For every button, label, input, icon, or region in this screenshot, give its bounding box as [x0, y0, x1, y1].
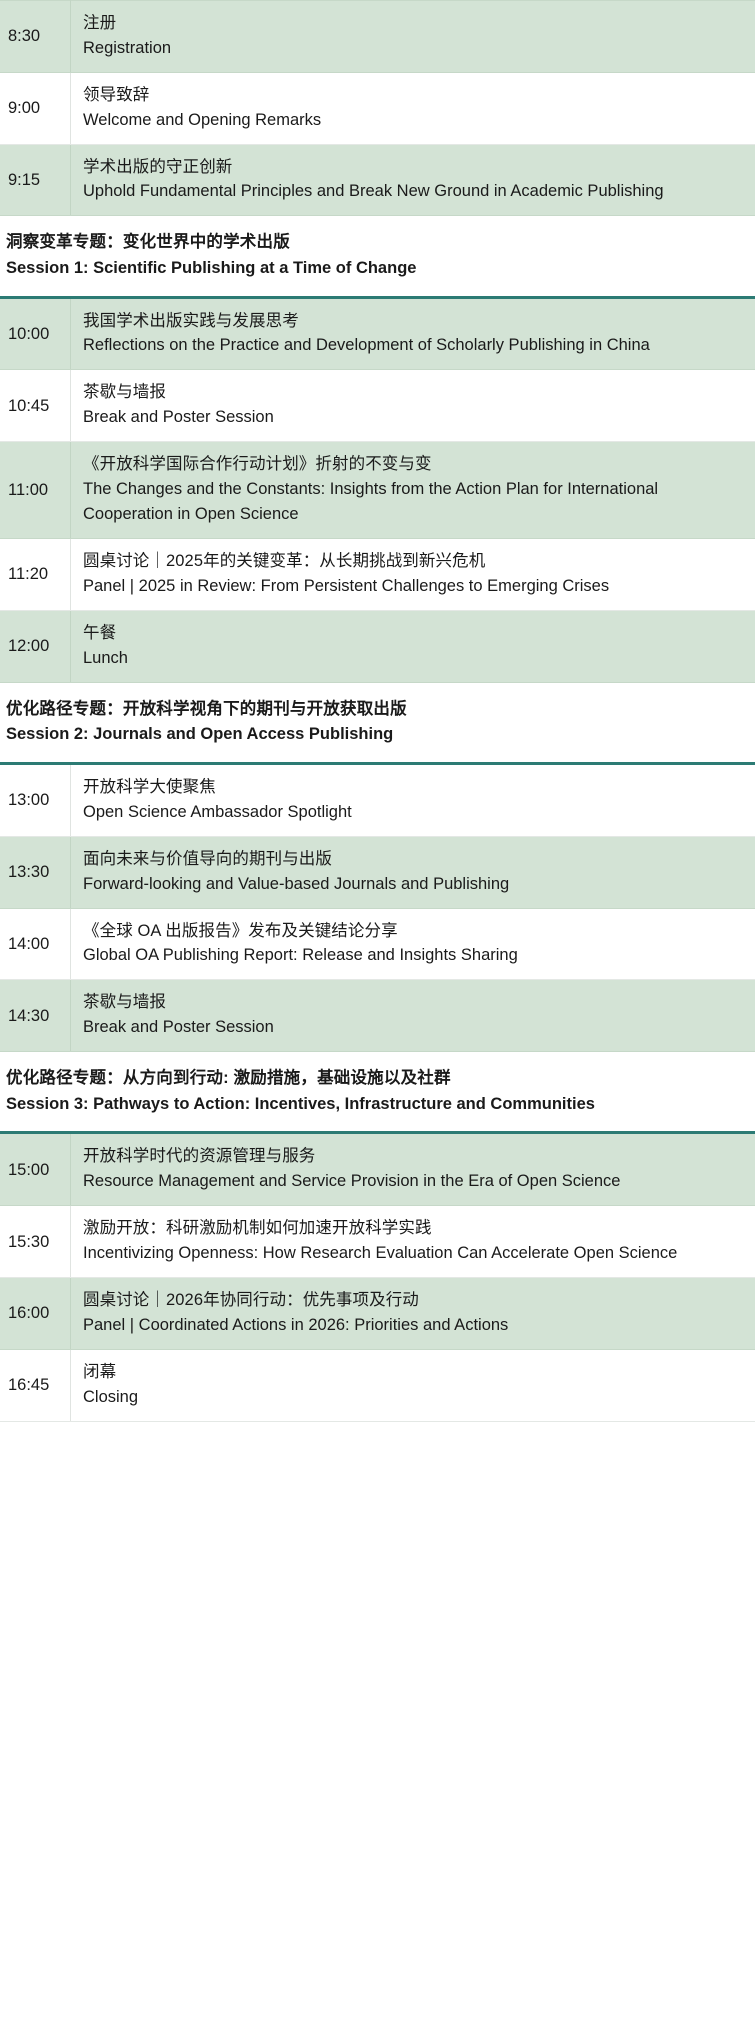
agenda-item-row: 13:30面向未来与价值导向的期刊与出版Forward-looking and … [0, 836, 755, 908]
session-header-cell: 优化路径专题：从方向到行动: 激励措施，基础设施以及社群Session 3: P… [0, 1052, 755, 1133]
agenda-item-title-en: Lunch [83, 646, 741, 671]
agenda-item-title-cn: 茶歇与墙报 [83, 380, 741, 405]
agenda-item-title-en: Break and Poster Session [83, 1015, 741, 1040]
agenda-item-row: 12:00午餐Lunch [0, 611, 755, 683]
agenda-item-time: 13:30 [0, 836, 71, 908]
agenda-item-title-cn: 《全球 OA 出版报告》发布及关键结论分享 [83, 919, 741, 944]
agenda-item-row: 15:30激励开放：科研激励机制如何加速开放科学实践Incentivizing … [0, 1206, 755, 1278]
agenda-item-detail: 学术出版的守正创新Uphold Fundamental Principles a… [71, 144, 755, 216]
agenda-item-title-en: Registration [83, 36, 741, 61]
agenda-item-title-cn: 茶歇与墙报 [83, 990, 741, 1015]
agenda-item-detail: 面向未来与价值导向的期刊与出版Forward-looking and Value… [71, 836, 755, 908]
agenda-item-time: 9:00 [0, 72, 71, 144]
agenda-item-time: 14:30 [0, 980, 71, 1052]
agenda-item-row: 8:30注册Registration [0, 1, 755, 73]
session-title-cn: 洞察变革专题：变化世界中的学术出版 [6, 230, 743, 256]
agenda-item-time: 8:30 [0, 1, 71, 73]
agenda-item-row: 9:15学术出版的守正创新Uphold Fundamental Principl… [0, 144, 755, 216]
agenda-item-title-cn: 学术出版的守正创新 [83, 155, 741, 180]
agenda-item-detail: 注册Registration [71, 1, 755, 73]
agenda-item-detail: 我国学术出版实践与发展思考Reflections on the Practice… [71, 297, 755, 370]
agenda-item-detail: 茶歇与墙报Break and Poster Session [71, 370, 755, 442]
agenda-item-time: 15:30 [0, 1206, 71, 1278]
agenda-item-time: 13:00 [0, 763, 71, 836]
agenda-item-title-en: Closing [83, 1385, 741, 1410]
agenda-item-time: 10:45 [0, 370, 71, 442]
agenda-item-detail: 闭幕Closing [71, 1349, 755, 1421]
agenda-item-row: 10:45茶歇与墙报Break and Poster Session [0, 370, 755, 442]
agenda-item-row: 13:00开放科学大使聚焦Open Science Ambassador Spo… [0, 763, 755, 836]
agenda-item-detail: 《全球 OA 出版报告》发布及关键结论分享Global OA Publishin… [71, 908, 755, 980]
session-title-en: Session 2: Journals and Open Access Publ… [6, 722, 743, 748]
agenda-item-title-cn: 闭幕 [83, 1360, 741, 1385]
agenda-item-title-en: Forward-looking and Value-based Journals… [83, 872, 741, 897]
agenda-item-time: 15:00 [0, 1133, 71, 1206]
agenda-item-title-en: The Changes and the Constants: Insights … [83, 477, 741, 527]
agenda-item-time: 11:00 [0, 442, 71, 539]
agenda-item-detail: 茶歇与墙报Break and Poster Session [71, 980, 755, 1052]
agenda-item-row: 16:45闭幕Closing [0, 1349, 755, 1421]
agenda-item-row: 9:00领导致辞Welcome and Opening Remarks [0, 72, 755, 144]
agenda-item-detail: 圆桌讨论｜2026年协同行动：优先事项及行动Panel | Coordinate… [71, 1278, 755, 1350]
session-title-cn: 优化路径专题：开放科学视角下的期刊与开放获取出版 [6, 697, 743, 723]
agenda-item-time: 10:00 [0, 297, 71, 370]
agenda-item-title-cn: 开放科学大使聚焦 [83, 775, 741, 800]
agenda-item-title-en: Resource Management and Service Provisio… [83, 1169, 741, 1194]
agenda-item-title-en: Open Science Ambassador Spotlight [83, 800, 741, 825]
session-header-row: 优化路径专题：开放科学视角下的期刊与开放获取出版Session 2: Journ… [0, 682, 755, 763]
session-title-en: Session 1: Scientific Publishing at a Ti… [6, 256, 743, 282]
agenda-item-title-cn: 注册 [83, 11, 741, 36]
agenda-item-title-cn: 午餐 [83, 621, 741, 646]
agenda-item-title-en: Global OA Publishing Report: Release and… [83, 943, 741, 968]
session-header-cell: 优化路径专题：开放科学视角下的期刊与开放获取出版Session 2: Journ… [0, 682, 755, 763]
agenda-item-title-en: Panel | Coordinated Actions in 2026: Pri… [83, 1313, 741, 1338]
agenda-item-title-cn: 我国学术出版实践与发展思考 [83, 309, 741, 334]
session-title-cn: 优化路径专题：从方向到行动: 激励措施，基础设施以及社群 [6, 1066, 743, 1092]
agenda-item-row: 10:00我国学术出版实践与发展思考Reflections on the Pra… [0, 297, 755, 370]
agenda-item-detail: 开放科学时代的资源管理与服务Resource Management and Se… [71, 1133, 755, 1206]
agenda-item-title-en: Panel | 2025 in Review: From Persistent … [83, 574, 741, 599]
agenda-item-detail: 领导致辞Welcome and Opening Remarks [71, 72, 755, 144]
agenda-item-title-cn: 激励开放：科研激励机制如何加速开放科学实践 [83, 1216, 741, 1241]
session-title-en: Session 3: Pathways to Action: Incentive… [6, 1092, 743, 1118]
agenda-item-title-cn: 领导致辞 [83, 83, 741, 108]
agenda-item-time: 12:00 [0, 611, 71, 683]
agenda-body: 8:30注册Registration9:00领导致辞Welcome and Op… [0, 1, 755, 1422]
agenda-item-row: 15:00开放科学时代的资源管理与服务Resource Management a… [0, 1133, 755, 1206]
agenda-item-row: 11:00《开放科学国际合作行动计划》折射的不变与变The Changes an… [0, 442, 755, 539]
agenda-table: 8:30注册Registration9:00领导致辞Welcome and Op… [0, 0, 755, 1422]
agenda-item-detail: 激励开放：科研激励机制如何加速开放科学实践Incentivizing Openn… [71, 1206, 755, 1278]
agenda-item-title-en: Uphold Fundamental Principles and Break … [83, 179, 741, 204]
agenda-item-detail: 开放科学大使聚焦Open Science Ambassador Spotligh… [71, 763, 755, 836]
agenda-item-title-en: Incentivizing Openness: How Research Eva… [83, 1241, 741, 1266]
agenda-item-time: 14:00 [0, 908, 71, 980]
agenda-item-title-cn: 《开放科学国际合作行动计划》折射的不变与变 [83, 452, 741, 477]
agenda-item-time: 11:20 [0, 539, 71, 611]
session-header-row: 洞察变革专题：变化世界中的学术出版Session 1: Scientific P… [0, 216, 755, 297]
agenda-item-title-en: Welcome and Opening Remarks [83, 108, 741, 133]
agenda-item-row: 11:20圆桌讨论｜2025年的关键变革：从长期挑战到新兴危机Panel | 2… [0, 539, 755, 611]
agenda-item-title-en: Break and Poster Session [83, 405, 741, 430]
agenda-item-row: 14:00《全球 OA 出版报告》发布及关键结论分享Global OA Publ… [0, 908, 755, 980]
agenda-item-row: 14:30茶歇与墙报Break and Poster Session [0, 980, 755, 1052]
agenda-item-title-cn: 圆桌讨论｜2026年协同行动：优先事项及行动 [83, 1288, 741, 1313]
agenda-item-row: 16:00圆桌讨论｜2026年协同行动：优先事项及行动Panel | Coord… [0, 1278, 755, 1350]
agenda-item-title-cn: 圆桌讨论｜2025年的关键变革：从长期挑战到新兴危机 [83, 549, 741, 574]
agenda-item-title-cn: 开放科学时代的资源管理与服务 [83, 1144, 741, 1169]
agenda-item-detail: 《开放科学国际合作行动计划》折射的不变与变The Changes and the… [71, 442, 755, 539]
agenda-item-detail: 圆桌讨论｜2025年的关键变革：从长期挑战到新兴危机Panel | 2025 i… [71, 539, 755, 611]
agenda-item-title-en: Reflections on the Practice and Developm… [83, 333, 741, 358]
agenda-item-detail: 午餐Lunch [71, 611, 755, 683]
agenda-item-time: 9:15 [0, 144, 71, 216]
agenda-item-title-cn: 面向未来与价值导向的期刊与出版 [83, 847, 741, 872]
agenda-item-time: 16:00 [0, 1278, 71, 1350]
session-header-row: 优化路径专题：从方向到行动: 激励措施，基础设施以及社群Session 3: P… [0, 1052, 755, 1133]
agenda-item-time: 16:45 [0, 1349, 71, 1421]
session-header-cell: 洞察变革专题：变化世界中的学术出版Session 1: Scientific P… [0, 216, 755, 297]
